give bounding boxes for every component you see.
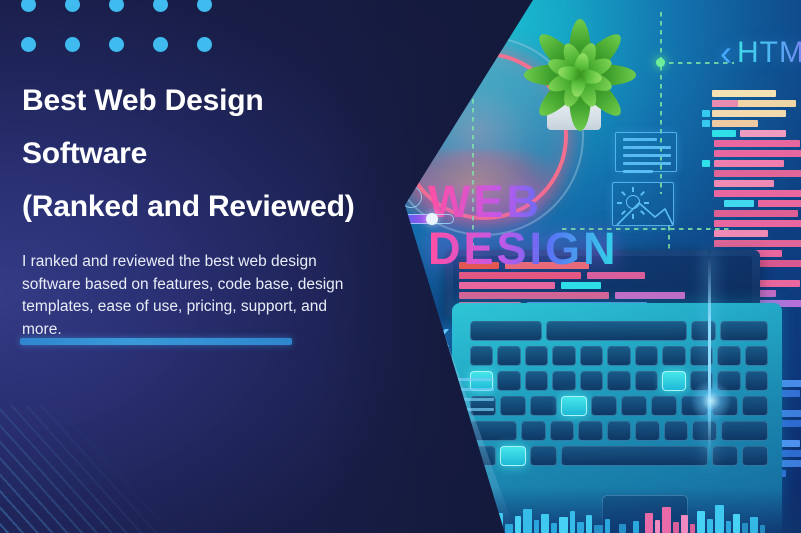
keyboard-key	[521, 421, 546, 441]
keyboard-key-highlighted	[561, 396, 587, 416]
code-line	[714, 140, 800, 147]
keyboard-row	[470, 346, 768, 366]
code-line	[702, 120, 710, 127]
slider-knob	[426, 213, 438, 225]
grid-dot	[65, 37, 80, 52]
code-line	[459, 282, 555, 289]
code-line	[702, 160, 710, 167]
headline-line-1: Best Web Design	[22, 74, 402, 127]
code-line	[615, 292, 685, 299]
grid-dot	[65, 0, 80, 12]
keyboard-key	[470, 321, 542, 341]
keyboard-key	[664, 421, 689, 441]
code-line	[702, 110, 710, 117]
keyboard-key	[525, 371, 548, 391]
keyboard-key	[546, 321, 687, 341]
corner-diagonal-lines-decoration	[0, 405, 160, 533]
code-line	[758, 200, 801, 207]
keyboard-key	[578, 421, 603, 441]
code-line	[740, 130, 786, 137]
grid-dot	[197, 37, 212, 52]
keyboard-key	[712, 446, 738, 466]
keyboard-key	[552, 371, 575, 391]
code-line	[714, 230, 768, 237]
code-line	[561, 282, 601, 289]
chevron-left-icon: ‹	[720, 38, 732, 68]
keyboard-key	[635, 421, 660, 441]
keyboard-key	[720, 321, 768, 341]
keyboard-key	[470, 346, 493, 366]
headline-line-2: Software	[22, 127, 402, 180]
keyboard-key	[530, 396, 556, 416]
keyboard-key	[717, 346, 740, 366]
code-line	[459, 292, 609, 299]
code-line	[712, 100, 738, 107]
grid-dot	[109, 37, 124, 52]
code-line	[714, 160, 784, 167]
neon-text-line-1: WEB	[428, 178, 619, 225]
keyboard-key	[692, 421, 717, 441]
keyboard-key	[745, 346, 768, 366]
grid-dot	[21, 37, 36, 52]
grid-dot	[153, 0, 168, 12]
keyboard-key	[525, 346, 548, 366]
code-line	[724, 200, 754, 207]
keyboard-key	[721, 421, 768, 441]
code-line	[714, 150, 801, 157]
succulent-plant-icon	[525, 20, 635, 130]
keyboard-key	[580, 371, 603, 391]
mountain-icon	[613, 183, 674, 226]
code-line	[714, 220, 801, 227]
grid-dot	[21, 0, 36, 12]
headline-block: Best Web Design Software (Ranked and Rev…	[22, 74, 402, 341]
page-title: Best Web Design Software (Ranked and Rev…	[22, 74, 402, 233]
grid-dot	[109, 0, 124, 12]
code-line	[714, 170, 801, 177]
keyboard-key	[497, 371, 520, 391]
html-tag-label: ‹ HTML	[720, 38, 801, 68]
keyboard-key	[607, 421, 632, 441]
web-design-neon-text: WEB DESIGN	[428, 178, 619, 272]
keyboard-key	[742, 446, 768, 466]
wireframe-text-card	[615, 132, 677, 172]
keyboard-row	[470, 421, 768, 441]
keyboard-key-highlighted	[500, 446, 526, 466]
keyboard-key	[745, 371, 768, 391]
keyboard-key-spacebar	[561, 446, 708, 466]
code-line	[714, 240, 801, 247]
code-line	[712, 130, 736, 137]
keyboard-row	[470, 321, 768, 341]
keyboard-key	[580, 346, 603, 366]
keyboard-key	[550, 421, 575, 441]
keyboard-key	[635, 346, 658, 366]
keyboard-key	[651, 396, 677, 416]
keyboard-key	[691, 321, 716, 341]
keyboard-key	[591, 396, 617, 416]
keyboard-key	[530, 446, 556, 466]
html-tag-text: HTML	[737, 38, 801, 68]
keyboard-row	[470, 446, 768, 466]
keyboard-key	[500, 396, 526, 416]
guide-node-dot	[656, 58, 665, 67]
code-line	[712, 120, 758, 127]
code-line	[712, 110, 786, 117]
dot-grid-decoration	[6, 0, 226, 64]
keyboard-key	[552, 346, 575, 366]
keyboard-key	[607, 371, 630, 391]
keyboard-key	[742, 396, 768, 416]
keyboard-key	[635, 371, 658, 391]
code-line	[714, 190, 801, 197]
keyboard-key	[662, 346, 685, 366]
keyboard-key	[621, 396, 647, 416]
grid-dot	[197, 0, 212, 12]
code-line	[714, 210, 798, 217]
hero-banner: Best Web Design Software (Ranked and Rev…	[0, 0, 801, 533]
neon-text-line-2: DESIGN	[428, 225, 619, 272]
grid-dot	[153, 37, 168, 52]
subtitle-text: I ranked and reviewed the best web desig…	[22, 251, 362, 341]
city-skyline-decoration	[485, 487, 801, 533]
keyboard-key-highlighted	[662, 371, 685, 391]
light-beam-decoration	[708, 250, 711, 465]
keyboard-key	[497, 346, 520, 366]
keyboard-key	[607, 346, 630, 366]
code-line	[714, 180, 774, 187]
code-line	[712, 90, 776, 97]
light-flare-decoration	[690, 380, 732, 422]
image-placeholder-card	[612, 182, 674, 226]
accent-underline-bar	[20, 338, 292, 345]
headline-line-3: (Ranked and Reviewed)	[22, 180, 402, 233]
